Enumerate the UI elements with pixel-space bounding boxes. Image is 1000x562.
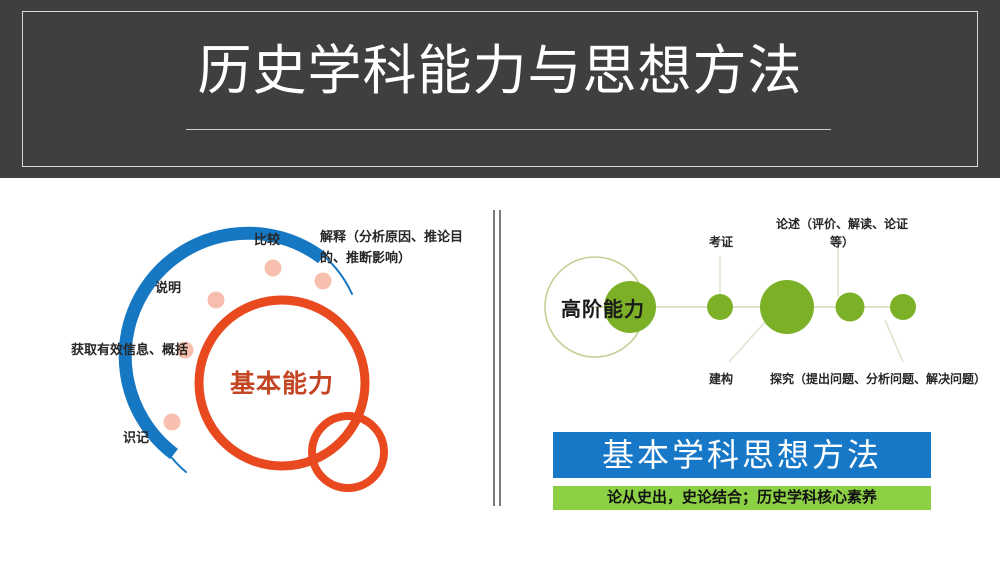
- title-underline-divider: [186, 129, 831, 130]
- step-label-shuoming: 说明: [155, 278, 181, 297]
- core-label-basic-ability: 基本能力: [216, 364, 348, 400]
- node-label-jiangou: 建构: [683, 370, 759, 388]
- node-label-kaozheng: 考证: [683, 233, 759, 251]
- chain-node-lunshu: [836, 293, 865, 322]
- milestone-dot-shiji: [164, 414, 181, 431]
- node-label-tanjiu: 探究（提出问题、分析问题、解决问题）: [763, 370, 993, 388]
- slide-header-bar: 历史学科能力与思想方法: [0, 0, 1000, 178]
- chain-node-jiangou: [760, 280, 814, 334]
- chain-node-kaozheng: [707, 294, 733, 320]
- step-label-shiji: 识记: [123, 428, 149, 447]
- milestone-dot-shuoming: [208, 292, 225, 309]
- milestone-dot-jieshi: [315, 273, 332, 290]
- milestone-dot-bijiao: [265, 260, 282, 277]
- arc-tail-bottom: [172, 458, 186, 472]
- step-label-jieshi: 解释（分析原因、推论目的、推断影响）: [320, 226, 472, 268]
- banner-core-literacy: 论从史出，史论结合；历史学科核心素养: [553, 486, 931, 510]
- step-label-huoqu: 获取有效信息、概括: [28, 339, 188, 360]
- banner-basic-subject-methods: 基本学科思想方法: [553, 432, 931, 478]
- chain-node-tanjiu: [890, 294, 916, 320]
- milestone-dots: [164, 260, 332, 431]
- divider-rule-left: [493, 210, 495, 506]
- node-label-lunshu: 论述（评价、解读、论证等）: [767, 215, 917, 251]
- divider-rule-right: [499, 210, 501, 506]
- basic-ability-panel: 基本能力 识记 获取有效信息、概括 说明 比较 解释（分析原因、推论目的、推断影…: [0, 200, 490, 562]
- column-divider: [493, 210, 502, 506]
- higher-order-ability-panel: 高阶能力 考证 论述（评价、解读、论证等） 建构 探究（提出问题、分析问题、解决…: [505, 200, 1000, 562]
- page-title: 历史学科能力与思想方法: [0, 36, 1000, 106]
- step-label-bijiao: 比较: [254, 230, 280, 249]
- core-label-higher-ability: 高阶能力: [545, 293, 661, 322]
